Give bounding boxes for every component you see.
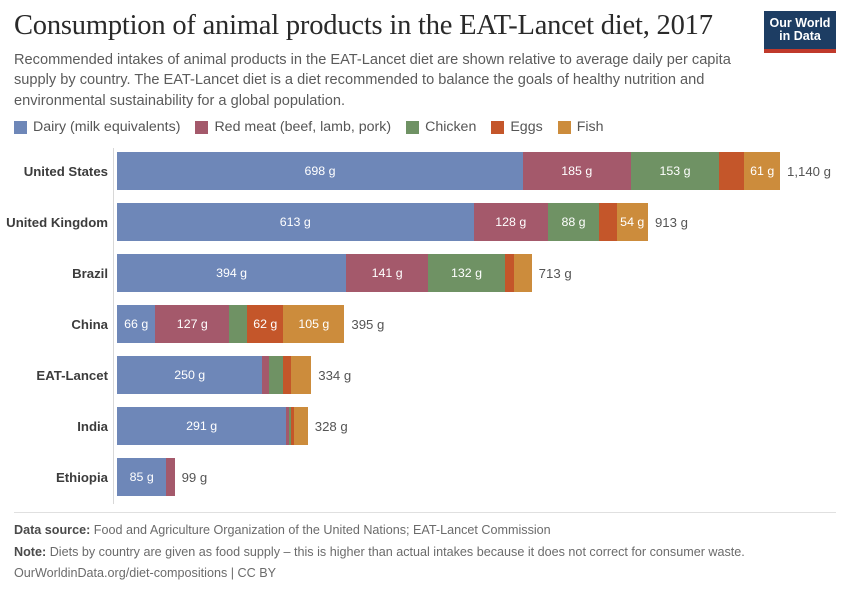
our-world-in-data-logo[interactable]: Our World in Data	[764, 11, 836, 53]
legend-label: Red meat (beef, lamb, pork)	[214, 119, 391, 135]
row-total-label: 328 g	[308, 407, 348, 445]
legend-swatch-icon	[491, 121, 504, 134]
bar-segment-label: 61 g	[750, 164, 774, 178]
legend-label: Chicken	[425, 119, 476, 135]
row-label: United Kingdom	[0, 203, 108, 241]
legend-swatch-icon	[195, 121, 208, 134]
note-label: Note:	[14, 545, 46, 559]
row-total-label: 913 g	[648, 203, 688, 241]
source-link[interactable]: OurWorldinData.org/diet-compositions | C…	[14, 563, 834, 585]
bar-segment-label: 88 g	[561, 215, 585, 229]
bar-segment[interactable]: 54 g	[617, 203, 648, 241]
page-title: Consumption of animal products in the EA…	[14, 10, 754, 43]
bar-segment[interactable]: 250 g	[117, 356, 262, 394]
bar-segment-label: 105 g	[298, 317, 329, 331]
chart-page: Consumption of animal products in the EA…	[0, 0, 850, 600]
stacked-bar[interactable]: 698 g185 g153 g61 g	[117, 152, 780, 190]
bar-segment[interactable]: 613 g	[117, 203, 474, 241]
bar-segment-label: 291 g	[186, 419, 217, 433]
legend-item[interactable]: Red meat (beef, lamb, pork)	[195, 119, 391, 135]
data-source-text: Food and Agriculture Organization of the…	[94, 523, 551, 537]
bar-segment-label: 62 g	[253, 317, 277, 331]
bar-segment-label: 250 g	[174, 368, 205, 382]
bar-segment[interactable]	[599, 203, 616, 241]
bar-segment[interactable]: 291 g	[117, 407, 286, 445]
chart-footer: Data source: Food and Agriculture Organi…	[14, 520, 834, 585]
row-total-label: 334 g	[311, 356, 351, 394]
chart-header: Consumption of animal products in the EA…	[14, 10, 754, 112]
footer-divider	[14, 512, 836, 513]
bar-segment[interactable]: 153 g	[631, 152, 720, 190]
row-label: China	[0, 305, 108, 343]
row-total-label: 395 g	[344, 305, 384, 343]
legend-swatch-icon	[14, 121, 27, 134]
stacked-bar[interactable]: 291 g	[117, 407, 308, 445]
bar-segment[interactable]: 66 g	[117, 305, 155, 343]
row-label: Brazil	[0, 254, 108, 292]
bar-segment-label: 185 g	[561, 164, 592, 178]
bar-segment[interactable]: 141 g	[346, 254, 428, 292]
bar-segment[interactable]: 61 g	[744, 152, 779, 190]
bar-segment[interactable]: 88 g	[548, 203, 599, 241]
bar-segment[interactable]	[505, 254, 514, 292]
bar-segment-label: 394 g	[216, 266, 247, 280]
bar-segment-label: 128 g	[495, 215, 526, 229]
legend-swatch-icon	[558, 121, 571, 134]
chart-row: Ethiopia85 g99 g	[0, 458, 850, 496]
note-text: Diets by country are given as food suppl…	[50, 545, 745, 559]
legend-label: Dairy (milk equivalents)	[33, 119, 180, 135]
bar-segment-label: 698 g	[304, 164, 335, 178]
stacked-bar[interactable]: 394 g141 g132 g	[117, 254, 532, 292]
chart-legend: Dairy (milk equivalents)Red meat (beef, …	[14, 119, 619, 135]
row-total-label: 713 g	[532, 254, 572, 292]
bar-segment-label: 66 g	[124, 317, 148, 331]
row-label: United States	[0, 152, 108, 190]
chart-row: Brazil394 g141 g132 g713 g	[0, 254, 850, 292]
bar-segment[interactable]: 105 g	[283, 305, 344, 343]
legend-item[interactable]: Eggs	[491, 119, 542, 135]
legend-item[interactable]: Fish	[558, 119, 604, 135]
chart-subtitle: Recommended intakes of animal products i…	[14, 50, 744, 112]
bar-segment-label: 153 g	[659, 164, 690, 178]
chart-plot-area: United States698 g185 g153 g61 g1,140 gU…	[0, 146, 850, 512]
bar-segment-label: 613 g	[280, 215, 311, 229]
legend-item[interactable]: Chicken	[406, 119, 476, 135]
stacked-bar[interactable]: 250 g	[117, 356, 311, 394]
legend-label: Eggs	[510, 119, 542, 135]
bar-segment-label: 54 g	[620, 215, 644, 229]
chart-row: United Kingdom613 g128 g88 g54 g913 g	[0, 203, 850, 241]
bar-segment[interactable]	[291, 356, 311, 394]
bar-segment[interactable]	[514, 254, 531, 292]
bar-segment-label: 141 g	[372, 266, 403, 280]
bar-segment-label: 132 g	[451, 266, 482, 280]
chart-row: India291 g328 g	[0, 407, 850, 445]
row-label: Ethiopia	[0, 458, 108, 496]
chart-row: EAT-Lancet250 g334 g	[0, 356, 850, 394]
bar-segment[interactable]: 185 g	[523, 152, 631, 190]
bar-segment[interactable]: 62 g	[247, 305, 283, 343]
logo-line-1: Our World	[770, 17, 831, 30]
bar-segment[interactable]: 127 g	[155, 305, 229, 343]
row-total-label: 99 g	[175, 458, 208, 496]
row-label: EAT-Lancet	[0, 356, 108, 394]
stacked-bar[interactable]: 613 g128 g88 g54 g	[117, 203, 648, 241]
stacked-bar[interactable]: 66 g127 g62 g105 g	[117, 305, 344, 343]
chart-row: United States698 g185 g153 g61 g1,140 g	[0, 152, 850, 190]
data-source-line: Data source: Food and Agriculture Organi…	[14, 520, 834, 542]
bar-segment-label: 85 g	[130, 470, 154, 484]
legend-item[interactable]: Dairy (milk equivalents)	[14, 119, 180, 135]
logo-line-2: in Data	[779, 30, 821, 43]
bar-segment[interactable]	[283, 356, 291, 394]
bar-segment[interactable]: 128 g	[474, 203, 548, 241]
note-line: Note: Diets by country are given as food…	[14, 542, 834, 564]
row-total-label: 1,140 g	[780, 152, 831, 190]
bar-segment[interactable]: 85 g	[117, 458, 166, 496]
row-label: India	[0, 407, 108, 445]
bar-segment[interactable]: 394 g	[117, 254, 346, 292]
stacked-bar[interactable]: 85 g	[117, 458, 175, 496]
bar-segment-label: 127 g	[177, 317, 208, 331]
bar-segment[interactable]	[294, 407, 308, 445]
bar-segment[interactable]	[719, 152, 744, 190]
bar-segment[interactable]: 698 g	[117, 152, 523, 190]
legend-label: Fish	[577, 119, 604, 135]
legend-swatch-icon	[406, 121, 419, 134]
bar-segment[interactable]: 132 g	[428, 254, 505, 292]
bar-segment[interactable]	[229, 305, 247, 343]
chart-row: China66 g127 g62 g105 g395 g	[0, 305, 850, 343]
bar-segment[interactable]	[269, 356, 283, 394]
data-source-label: Data source:	[14, 523, 90, 537]
bar-segment[interactable]	[166, 458, 174, 496]
